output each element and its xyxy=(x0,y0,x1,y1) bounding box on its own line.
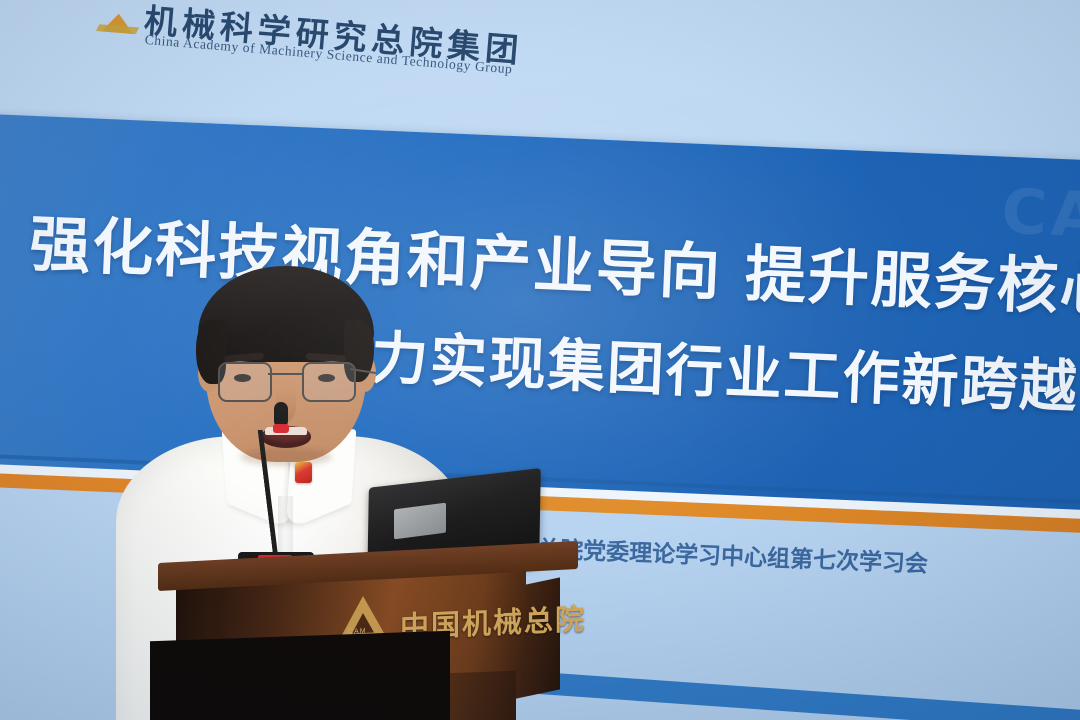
microphone-gooseneck xyxy=(258,430,289,567)
cam-watermark-text: CAM xyxy=(1000,175,1080,255)
presentation-photo-scene: 机械科学研究总院集团 China Academy of Machinery Sc… xyxy=(0,0,1080,720)
eyeglasses-lens-left xyxy=(218,362,272,402)
eyeglasses-lens-right xyxy=(302,362,356,402)
microphone-red-indicator-ring xyxy=(273,424,289,433)
foreground-dark-slab xyxy=(150,631,450,720)
eyeglasses-bridge xyxy=(268,373,302,375)
